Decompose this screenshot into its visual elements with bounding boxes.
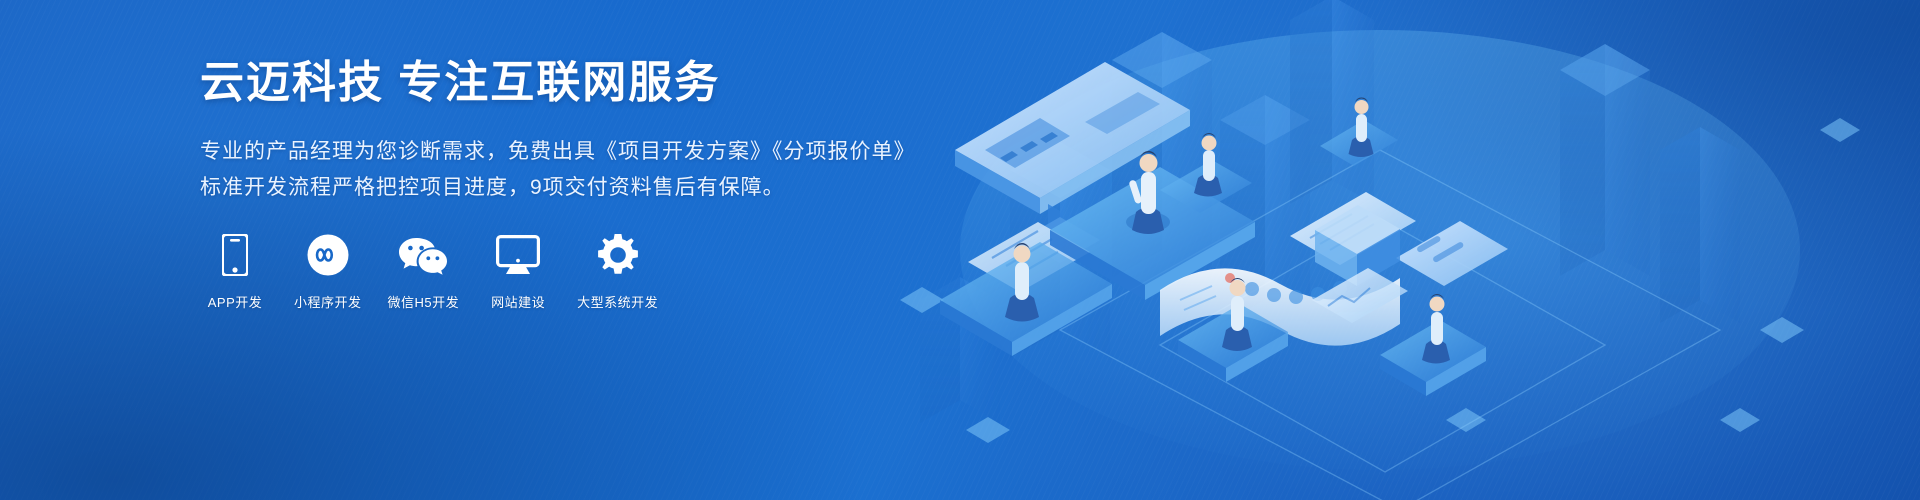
service-label-wechat: 微信H5开发	[388, 292, 460, 311]
service-item-app[interactable]: APP开发	[202, 232, 268, 311]
hero-banner: 云迈科技 专注互联网服务 专业的产品经理为您诊断需求，免费出具《项目开发方案》《…	[0, 0, 1920, 500]
page-title: 云迈科技 专注互联网服务	[200, 58, 1100, 109]
gear-icon	[597, 232, 639, 278]
mobile-phone-icon	[222, 232, 248, 278]
service-item-system[interactable]: 大型系统开发	[577, 232, 658, 311]
subtitle-line-2: 标准开发流程严格把控项目进度，9项交付资料售后有保障。	[200, 171, 1100, 205]
service-list: APP开发 小程序开发 微信	[202, 232, 658, 311]
service-label-app: APP开发	[208, 292, 263, 311]
mini-program-icon	[307, 232, 349, 278]
service-label-website: 网站建设	[491, 292, 545, 311]
service-label-mini-program: 小程序开发	[294, 292, 362, 311]
service-item-mini-program[interactable]: 小程序开发	[294, 232, 362, 311]
service-label-system: 大型系统开发	[577, 292, 658, 311]
wechat-icon	[398, 232, 448, 278]
monitor-icon	[496, 232, 540, 278]
service-item-website[interactable]: 网站建设	[485, 232, 551, 311]
subtitle-line-1: 专业的产品经理为您诊断需求，免费出具《项目开发方案》《分项报价单》	[200, 135, 1100, 169]
hero-text-block: 云迈科技 专注互联网服务 专业的产品经理为您诊断需求，免费出具《项目开发方案》《…	[200, 58, 1100, 205]
service-item-wechat[interactable]: 微信H5开发	[388, 232, 460, 311]
